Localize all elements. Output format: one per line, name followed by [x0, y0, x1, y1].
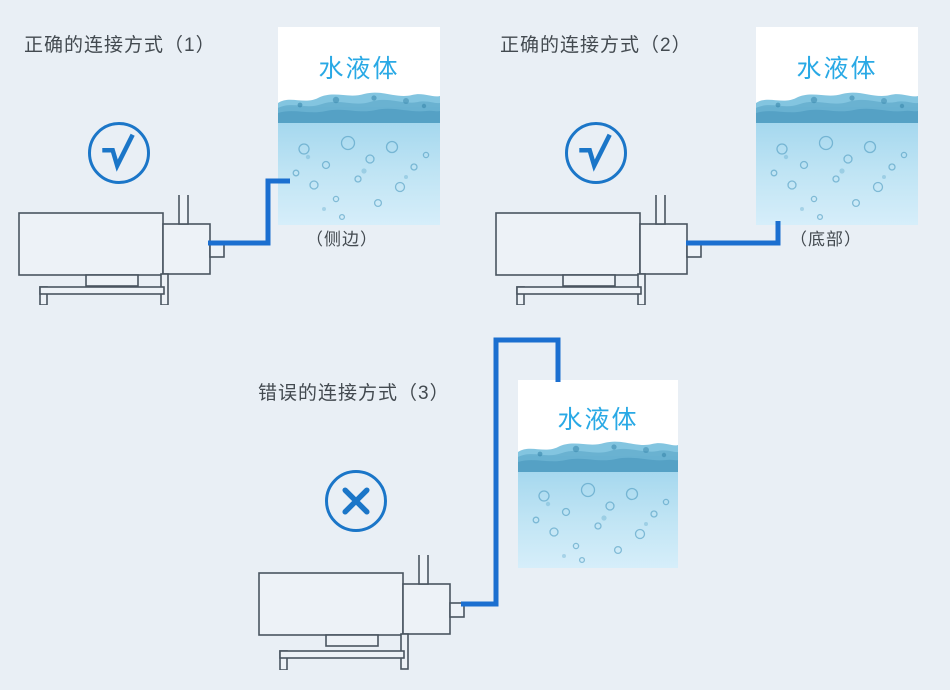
panel-3-title: 错误的连接方式（3） — [258, 384, 450, 403]
panel-2-title: 正确的连接方式（2） — [500, 36, 692, 55]
tank-2-label: 水液体 — [756, 57, 918, 82]
pump-machine-2 — [495, 195, 710, 305]
panel-1-title: 正确的连接方式（1） — [24, 36, 216, 55]
panel-incorrect-3: 错误的连接方式（3） — [230, 340, 700, 690]
water-tank-3: 水液体 — [518, 380, 678, 568]
panel-correct-2: 正确的连接方式（2） — [480, 0, 950, 330]
tank-1-label: 水液体 — [278, 57, 440, 82]
check-mark-icon — [88, 122, 150, 184]
panel-1-caption: （侧边） — [306, 231, 378, 248]
panel-correct-1: 正确的连接方式（1） — [0, 0, 470, 330]
tank-3-label: 水液体 — [518, 408, 678, 433]
water-tank-1: 水液体 — [278, 27, 440, 225]
panel-2-caption: （底部） — [790, 231, 862, 248]
cross-mark-icon — [325, 470, 387, 532]
pump-machine-1 — [18, 195, 233, 305]
diagram-canvas: 正确的连接方式（1） — [0, 0, 950, 690]
water-tank-2: 水液体 — [756, 27, 918, 225]
pump-machine-3 — [258, 555, 473, 670]
check-mark-icon — [565, 122, 627, 184]
